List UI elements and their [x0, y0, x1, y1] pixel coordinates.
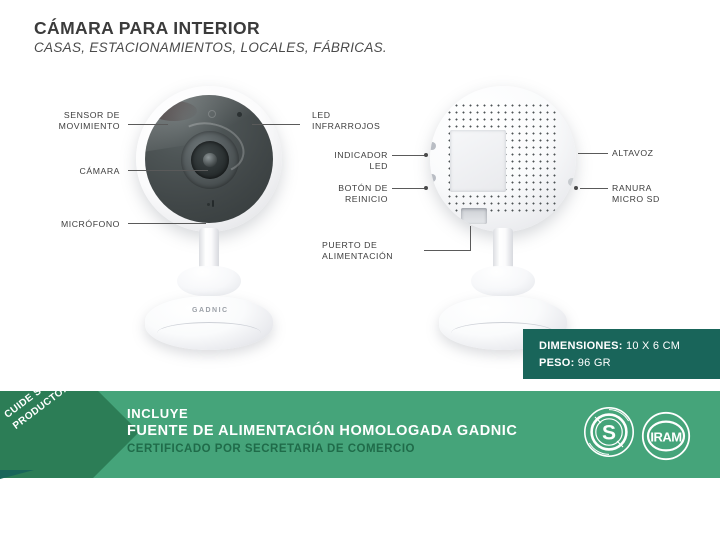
spec-weight-value: 96 GR	[578, 357, 611, 369]
banner-line-certificado: CERTIFICADO POR SECRETARIA DE COMERCIO	[127, 441, 517, 458]
callout-ranura-micro-sd: RANURA MICRO SD	[612, 183, 712, 205]
micro-sd-slot-icon	[568, 178, 576, 186]
callout-led-infrarrojos: LED INFRARROJOS	[312, 110, 412, 132]
specs-box: DIMENSIONES: 10 X 6 CM PESO: 96 GR	[523, 329, 720, 379]
callout-puerto-de-alimentacion: PUERTO DE ALIMENTACIÓN	[322, 240, 432, 262]
reflection-tint-icon	[151, 101, 197, 121]
leader-dot-indicador-led	[424, 153, 428, 157]
spec-weight-label: PESO:	[539, 357, 574, 369]
banner-line-fuente: FUENTE DE ALIMENTACIÓN HOMOLOGADA GADNIC	[127, 422, 517, 441]
leader-line-puerto-h	[424, 250, 471, 251]
leader-line-altavoz	[578, 153, 608, 154]
callout-boton-de-reinicio: BOTÓN DE REINICIO	[310, 183, 388, 205]
leader-line-indicador-led	[392, 155, 426, 156]
reset-button-icon	[430, 174, 436, 182]
power-port-icon	[461, 208, 487, 224]
front-base-seam	[157, 322, 261, 344]
page-title: CÁMARA PARA INTERIOR	[34, 18, 260, 39]
base-brand-label: GADNIC	[192, 307, 229, 314]
camera-lens-pupil	[203, 153, 217, 167]
camera-front-face	[145, 95, 273, 223]
callout-altavoz: ALTAVOZ	[612, 148, 712, 159]
microphone-slot-icon	[212, 200, 214, 207]
back-recessed-panel	[450, 130, 506, 192]
leader-line-led-infrarrojos	[252, 124, 300, 125]
motion-sensor-icon	[208, 110, 216, 118]
banner-line-incluye: INCLUYE	[127, 405, 517, 422]
leader-line-boton-reinicio	[392, 188, 426, 189]
leader-dot-boton-reinicio	[424, 186, 428, 190]
infrared-led-icon	[237, 112, 242, 117]
spec-weight: PESO: 96 GR	[539, 355, 720, 372]
product-infographic: CÁMARA PARA INTERIOR CASAS, ESTACIONAMIE…	[0, 0, 720, 540]
iram-seal-icon: IRAM	[641, 411, 693, 463]
front-stand-neck	[199, 228, 219, 270]
callout-camara: CÁMARA	[20, 166, 120, 177]
led-indicator-icon	[430, 142, 436, 150]
spec-dimensions: DIMENSIONES: 10 X 6 CM	[539, 338, 720, 355]
spec-dimensions-value: 10 X 6 CM	[626, 340, 680, 352]
banner-text-block: INCLUYE FUENTE DE ALIMENTACIÓN HOMOLOGAD…	[127, 405, 517, 458]
back-stand-neck	[493, 228, 513, 270]
camera-back-body	[430, 86, 576, 232]
svg-text:S: S	[602, 422, 616, 445]
page-subtitle: CASAS, ESTACIONAMIENTOS, LOCALES, FÁBRIC…	[34, 40, 387, 55]
s-safety-seal-icon: S	[583, 406, 635, 458]
leader-dot-micro-sd	[574, 186, 578, 190]
front-stand-cone	[177, 266, 241, 296]
svg-text:IRAM: IRAM	[650, 429, 681, 444]
callout-sensor-de-movimiento: SENSOR DE MOVIMIENTO	[20, 110, 120, 132]
spec-dimensions-label: DIMENSIONES:	[539, 340, 623, 352]
leader-line-micro-sd	[580, 188, 608, 189]
leader-line-puerto-v	[470, 226, 471, 251]
leader-line-microfono	[128, 223, 206, 224]
microphone-hole-icon	[207, 203, 210, 206]
callout-indicador-led: INDICADOR LED	[310, 150, 388, 172]
camera-front-bezel	[136, 86, 282, 232]
leader-line-sensor	[128, 124, 168, 125]
back-stand-cone	[471, 266, 535, 296]
callout-microfono: MICRÓFONO	[20, 219, 120, 230]
leader-line-camara	[128, 170, 208, 171]
